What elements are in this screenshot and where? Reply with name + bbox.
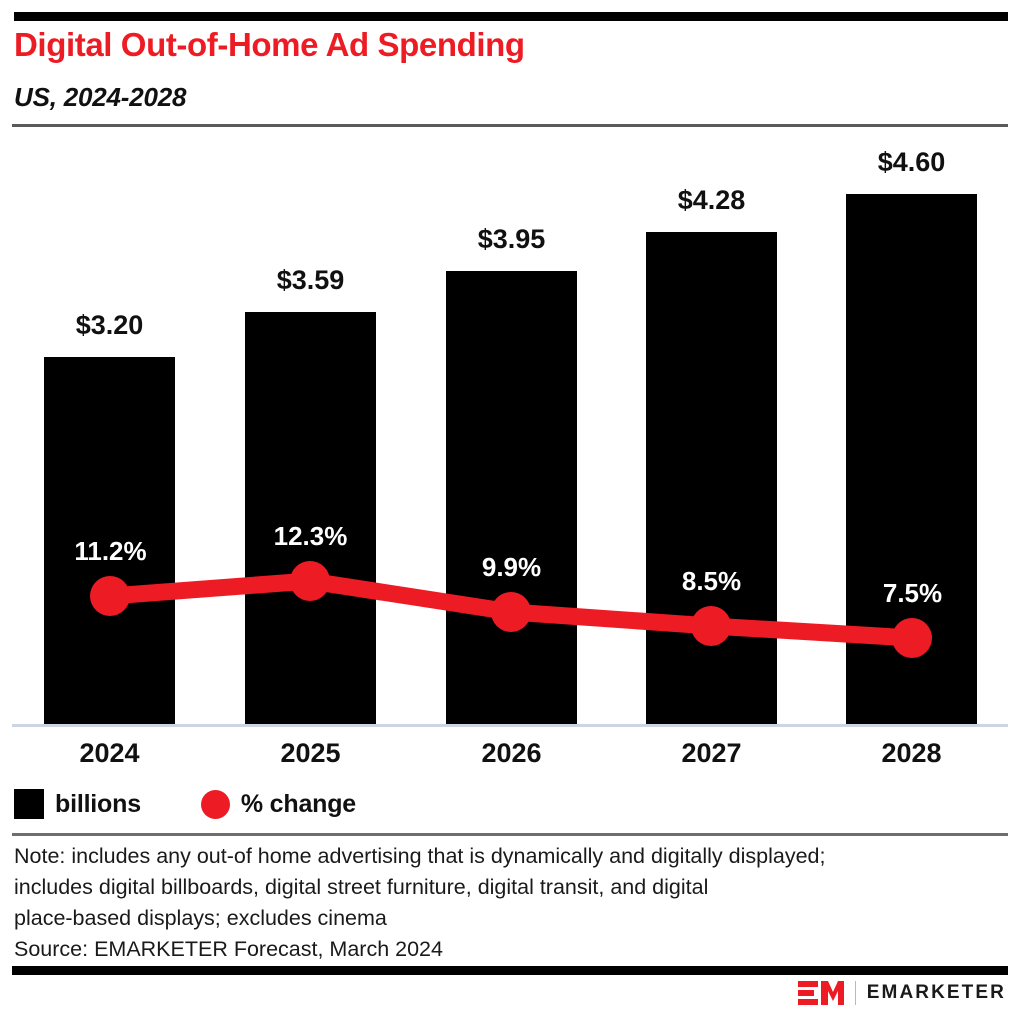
legend-label-billions: billions bbox=[55, 790, 141, 819]
bar-value-2024: $3.20 bbox=[44, 310, 175, 341]
bar-2026 bbox=[446, 271, 577, 725]
brand-divider bbox=[855, 981, 856, 1005]
em-logo-icon bbox=[798, 980, 844, 1006]
source-line: Source: EMARKETER Forecast, March 2024 bbox=[14, 934, 1004, 965]
pct-value-2025: 12.3% bbox=[245, 521, 376, 552]
bar-value-2027: $4.28 bbox=[646, 185, 777, 216]
x-tick-2024: 2024 bbox=[44, 738, 175, 769]
pct-value-2028: 7.5% bbox=[847, 578, 978, 609]
note-line-3: place-based displays; excludes cinema bbox=[14, 903, 1004, 934]
chart-page: Digital Out-of-Home Ad Spending US, 2024… bbox=[0, 0, 1020, 1016]
note-line-1: Note: includes any out-of home advertisi… bbox=[14, 841, 1004, 872]
legend-item-pct-change[interactable]: % change bbox=[201, 790, 356, 819]
bar-2027 bbox=[646, 232, 777, 725]
bar-value-2028: $4.60 bbox=[846, 147, 977, 178]
bar-value-2026: $3.95 bbox=[446, 224, 577, 255]
x-axis-line bbox=[12, 724, 1008, 727]
bar-2028 bbox=[846, 194, 977, 725]
bar-value-2025: $3.59 bbox=[245, 265, 376, 296]
chart-legend: billions % change bbox=[14, 789, 356, 819]
x-tick-2027: 2027 bbox=[646, 738, 777, 769]
footer-branding[interactable]: EMARKETER bbox=[798, 980, 1006, 1006]
red-circle-icon bbox=[201, 790, 230, 819]
pct-value-2026: 9.9% bbox=[446, 552, 577, 583]
bar-2025 bbox=[245, 312, 376, 725]
x-tick-2026: 2026 bbox=[446, 738, 577, 769]
x-tick-2028: 2028 bbox=[846, 738, 977, 769]
bottom-rule bbox=[12, 966, 1008, 975]
legend-item-billions[interactable]: billions bbox=[14, 789, 141, 819]
pct-value-2027: 8.5% bbox=[646, 566, 777, 597]
legend-label-pct-change: % change bbox=[241, 790, 356, 819]
brand-wordmark: EMARKETER bbox=[867, 982, 1006, 1004]
pct-value-2024: 11.2% bbox=[45, 536, 176, 567]
note-line-2: includes digital billboards, digital str… bbox=[14, 872, 1004, 903]
black-square-icon bbox=[14, 789, 44, 819]
legend-divider bbox=[12, 833, 1008, 836]
x-tick-2025: 2025 bbox=[245, 738, 376, 769]
chart-notes: Note: includes any out-of home advertisi… bbox=[14, 841, 1004, 965]
